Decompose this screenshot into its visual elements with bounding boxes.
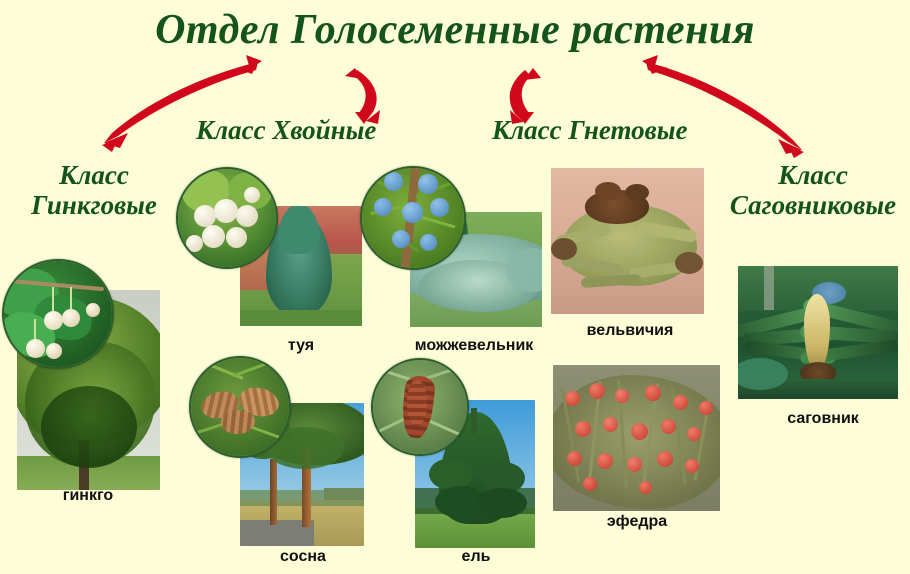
photo-juniper-berries <box>360 166 466 270</box>
photo-ephedra <box>553 365 720 511</box>
caption-ginkgo: гинкго <box>28 487 148 505</box>
caption-welwitschia: вельвичия <box>570 322 690 340</box>
class-label-ginkgovye: Класс Гинкговые <box>14 160 174 220</box>
class-label-line1: Класс <box>59 160 129 190</box>
class-label-hvoynye: Класс Хвойные <box>196 115 376 145</box>
photo-pine-cones <box>189 356 291 458</box>
caption-spruce: ель <box>440 548 512 566</box>
page-title: Отдел Голосеменные растения <box>0 6 910 54</box>
caption-juniper: можжевельник <box>392 337 556 355</box>
class-label-line2: Гинкговые <box>31 190 157 220</box>
photo-welwitschia <box>551 168 704 314</box>
caption-thuja: туя <box>246 337 356 355</box>
photo-ginkgo-leaves <box>2 259 114 369</box>
caption-cycad: саговник <box>768 410 878 428</box>
photo-thuja-cones <box>176 167 278 269</box>
photo-cycad <box>738 266 898 399</box>
class-label-gnetovye: Класс Гнетовые <box>492 115 687 145</box>
poster-canvas: Отдел Голосеменные растения <box>0 0 910 574</box>
photo-spruce-cone <box>371 358 469 456</box>
caption-pine: сосна <box>249 548 357 566</box>
class-label-line2: Саговниковые <box>730 190 896 220</box>
class-label-sagovnikovye: Класс Саговниковые <box>716 160 910 220</box>
caption-ephedra: эфедра <box>582 513 692 531</box>
class-label-line1: Класс <box>778 160 848 190</box>
